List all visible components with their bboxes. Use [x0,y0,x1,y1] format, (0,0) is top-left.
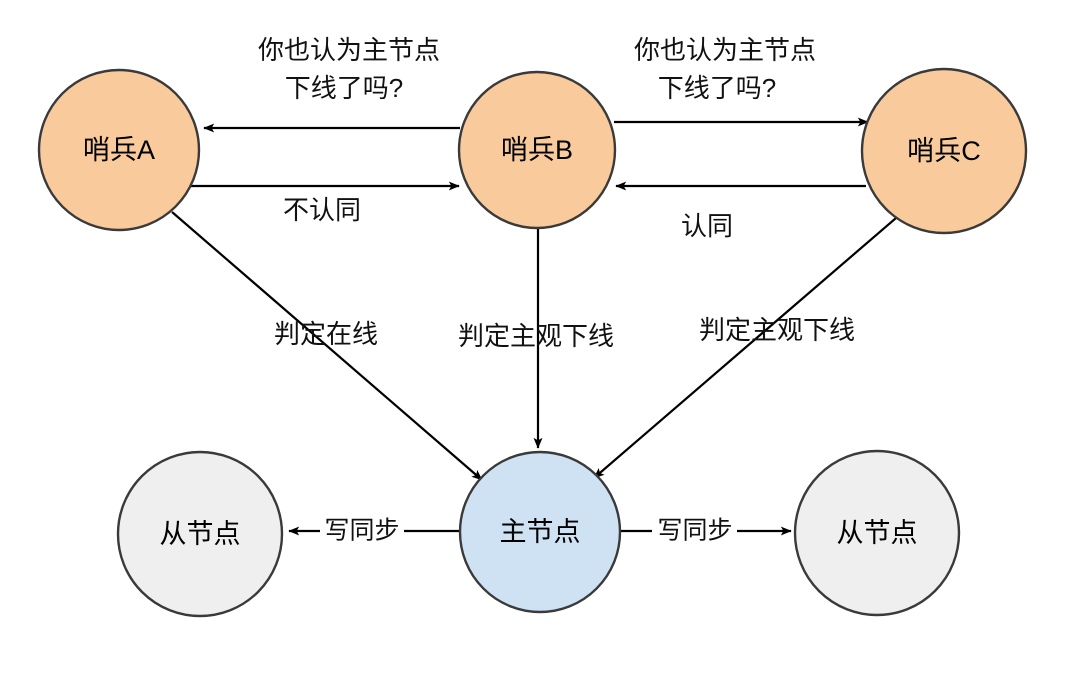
node-sentinel-a[interactable]: 哨兵A [39,70,199,230]
edge-label-b-to-c: 你也认为主节点 下线了吗? [634,35,816,103]
master-circle[interactable] [460,452,620,612]
node-master[interactable]: 主节点 [460,452,620,612]
sentinel-a-circle[interactable] [39,70,199,230]
edge-label-b-to-a: 你也认为主节点 下线了吗? [258,35,440,103]
sentinel-c-circle[interactable] [862,69,1026,233]
node-replica-left[interactable]: 从节点 [118,452,282,616]
edge-label-master-to-replica-right: 写同步 [657,517,732,545]
diagram-canvas: 哨兵A 哨兵B 哨兵C 从节点 主节点 从节点 你也认为主节点 下线了吗? [0,0,1066,686]
ask-c-line1: 你也认为主节点 [634,35,816,65]
replica-left-circle[interactable] [118,452,282,616]
sentinel-b-circle[interactable] [459,72,615,228]
edge-label-c-to-master: 判定主观下线 [699,315,855,345]
replica-right-circle[interactable] [795,451,959,615]
node-sentinel-b[interactable]: 哨兵B [459,72,615,228]
edge-label-a-to-b: 不认同 [283,195,361,225]
edge-c-to-master [594,218,896,478]
edge-c-to-master-line [594,218,896,478]
ask-a-line2: 下线了吗? [285,73,403,103]
ask-a-line1: 你也认为主节点 [258,35,440,65]
node-replica-right[interactable]: 从节点 [795,451,959,615]
ask-c-line2: 下线了吗? [658,73,776,103]
sentinel-failover-diagram: 哨兵A 哨兵B 哨兵C 从节点 主节点 从节点 你也认为主节点 下线了吗? [0,0,1066,686]
edge-label-a-to-master: 判定在线 [274,319,378,349]
edge-label-c-to-b: 认同 [681,211,733,241]
edge-label-b-to-master: 判定主观下线 [458,321,614,351]
edge-label-master-to-replica-left: 写同步 [324,517,399,545]
node-sentinel-c[interactable]: 哨兵C [862,69,1026,233]
